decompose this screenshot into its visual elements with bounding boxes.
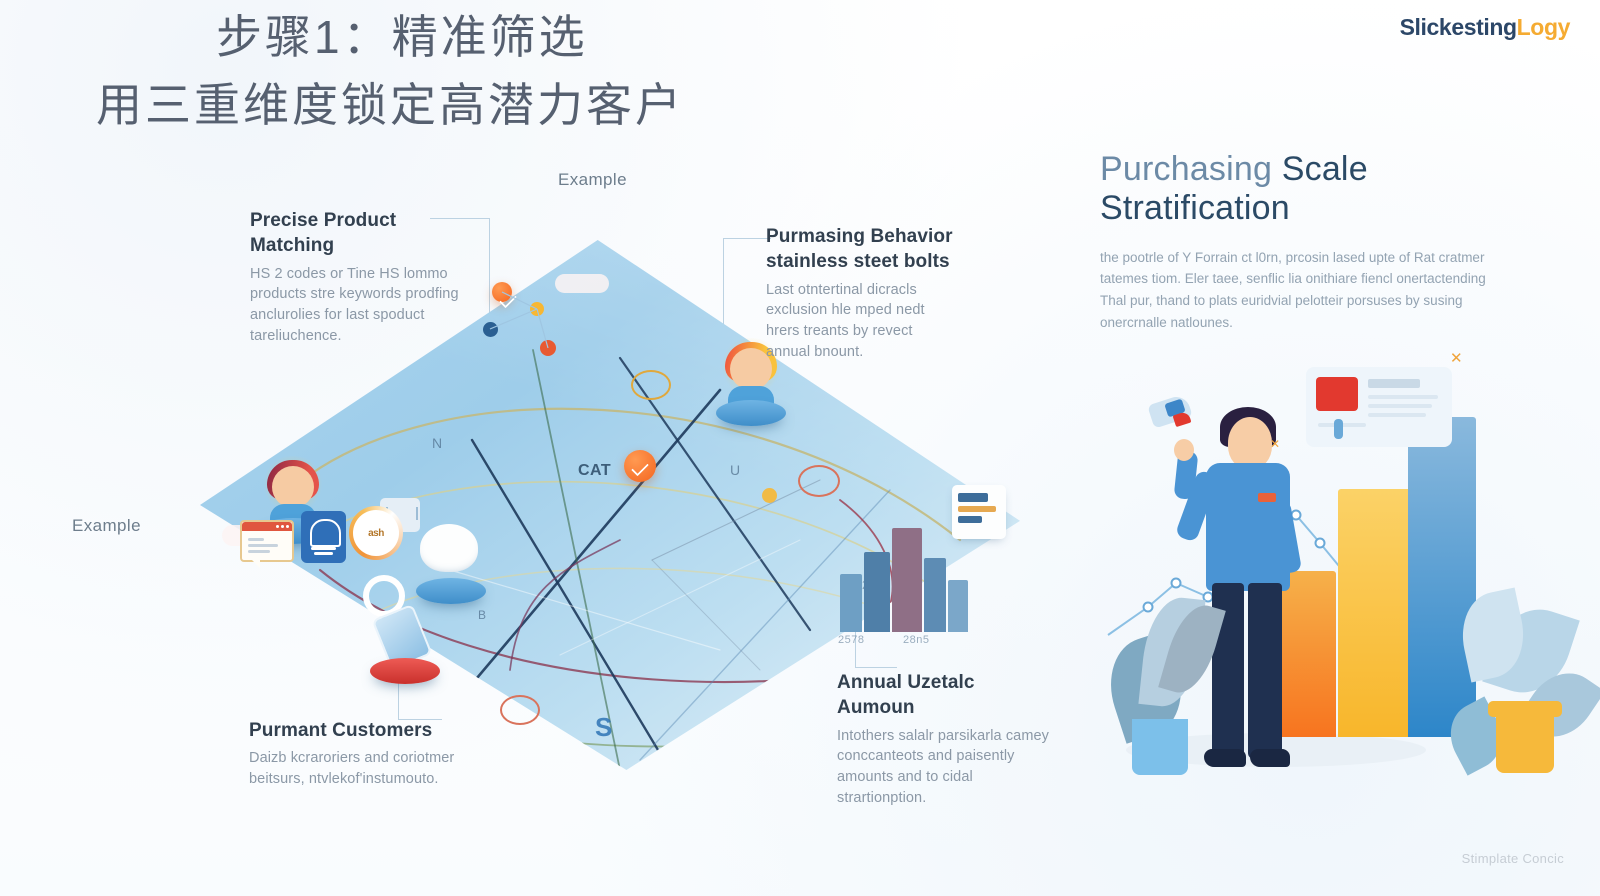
card-line (1368, 404, 1432, 408)
map-node-amber (762, 488, 777, 503)
map-ring-amber (631, 370, 671, 400)
callout-body: Last otntertinal dicracls exclusion hle … (766, 280, 956, 362)
right-panel: Purchasing Scale Stratification the poot… (1100, 150, 1600, 870)
callout-title: Purmant Customers (249, 718, 464, 743)
page-title: 步骤1：精准筛选 用三重维度锁定高潜力客户 (196, 8, 956, 136)
callout-body: Intothers salalr parsikarla camey concca… (837, 726, 1052, 808)
map-label-s: S (595, 712, 613, 743)
paper-plane-icon (1150, 397, 1204, 433)
avatar-base (370, 658, 440, 684)
document-icon[interactable] (301, 511, 346, 563)
info-card-panel[interactable] (1306, 367, 1452, 447)
map-cloud-top (555, 274, 609, 293)
card-bottle-icon (1334, 419, 1343, 439)
example-label-left: Example (72, 516, 141, 536)
page-title-line-2: 用三重维度锁定高潜力客户 (96, 75, 956, 136)
browser-chat-icon[interactable] (240, 520, 294, 562)
person-head (1228, 417, 1272, 469)
brand-logo-accent: Logy (1517, 14, 1570, 40)
callout-precise-product-matching: Precise Product Matching HS 2 codes or T… (250, 208, 480, 346)
callout-title: Purmasing Behavior stainless steet bolts (766, 224, 956, 275)
refresh-badge-label: ash (353, 510, 399, 556)
city-tick-right: 28n5 (903, 634, 929, 646)
map-label-b: B (478, 608, 487, 622)
city-building (864, 552, 890, 632)
callout-title: Precise Product Matching (250, 208, 480, 259)
callout-purchasing-behavior: Purmasing Behavior stainless steet bolts… (766, 224, 956, 362)
city-building (924, 558, 946, 632)
avatar-device-bottom[interactable] (362, 598, 448, 684)
card-thumbnail (1316, 377, 1358, 411)
map-dot-amber-top (530, 302, 544, 316)
plant-pot (1132, 719, 1188, 775)
brand-logo-primary: Slickesting (1400, 14, 1517, 40)
avatar-blank-center[interactable] (408, 518, 494, 604)
mini-card-bar (958, 493, 988, 502)
map-ring-coral (798, 465, 840, 497)
callout-annual-uptake-amount: Annual Uzetalc Aumoun Intothers salalr p… (837, 670, 1052, 808)
growth-illustration: ✕ ✕ (1098, 345, 1598, 845)
bar-tier-3 (1408, 417, 1476, 737)
person-hand (1174, 439, 1194, 461)
browser-chrome (242, 522, 292, 531)
refresh-badge-icon[interactable]: ash (349, 506, 403, 560)
card-line (1368, 395, 1438, 399)
right-panel-title-soft: Purchasing (1100, 150, 1282, 188)
map-label-n: N (432, 435, 443, 451)
city-tick-left: 2578 (838, 634, 864, 646)
person-leg-right (1248, 583, 1282, 759)
map-label-cat: CAT (578, 462, 611, 480)
source-icon-cluster: ash (240, 498, 420, 568)
avatar-base (716, 400, 786, 426)
example-label-top: Example (558, 170, 627, 190)
callout-purmant-customers: Purmant Customers Daizb kcraroriers and … (249, 718, 464, 790)
map-dot-orange-top (492, 282, 512, 302)
person-shoe-right (1250, 749, 1290, 767)
person-badge (1258, 493, 1276, 502)
avatar-blank-face (420, 524, 478, 572)
card-line (1368, 413, 1426, 417)
page-title-line-1: 步骤1：精准筛选 (216, 8, 956, 67)
map-ring-coral-bottom (500, 695, 540, 725)
map-dot-navy-top (483, 322, 498, 337)
map-label-u: U (730, 462, 741, 478)
city-building (892, 528, 922, 632)
map-node-primary[interactable] (624, 450, 656, 482)
city-building (948, 580, 968, 632)
plant-pot (1496, 713, 1554, 773)
footer-note: Stimplate Concic (1462, 851, 1564, 866)
plant-pot-rim (1488, 701, 1562, 717)
person-shoe-left (1204, 749, 1246, 767)
city-building (840, 574, 862, 632)
card-line (1368, 379, 1420, 388)
callout-body: Daizb kcraroriers and coriotmer beitsurs… (249, 748, 464, 789)
right-panel-title-hard-1: Scale (1282, 150, 1368, 188)
sparkle-icon: ✕ (1450, 349, 1463, 367)
diagram-stage: Example Example (0, 150, 1060, 850)
brand-logo: SlickestingLogy (1400, 14, 1570, 41)
mini-preview-card[interactable] (952, 485, 1006, 539)
callout-title: Annual Uzetalc Aumoun (837, 670, 1052, 721)
mini-card-bar (958, 516, 982, 523)
sparkle-icon: ✕ (1270, 437, 1280, 451)
right-panel-title-hard-2: Stratification (1100, 189, 1290, 227)
map-dot-orange-top-2 (540, 340, 556, 356)
right-panel-body: the pootrle of Y Forrain ct l0rn, prcosi… (1100, 247, 1492, 333)
cityscape-cluster (840, 522, 970, 632)
right-panel-title: Purchasing Scale Stratification (1100, 150, 1600, 229)
callout-body: HS 2 codes or Tine HS lommo products str… (250, 264, 480, 346)
mini-card-bar (958, 506, 996, 512)
